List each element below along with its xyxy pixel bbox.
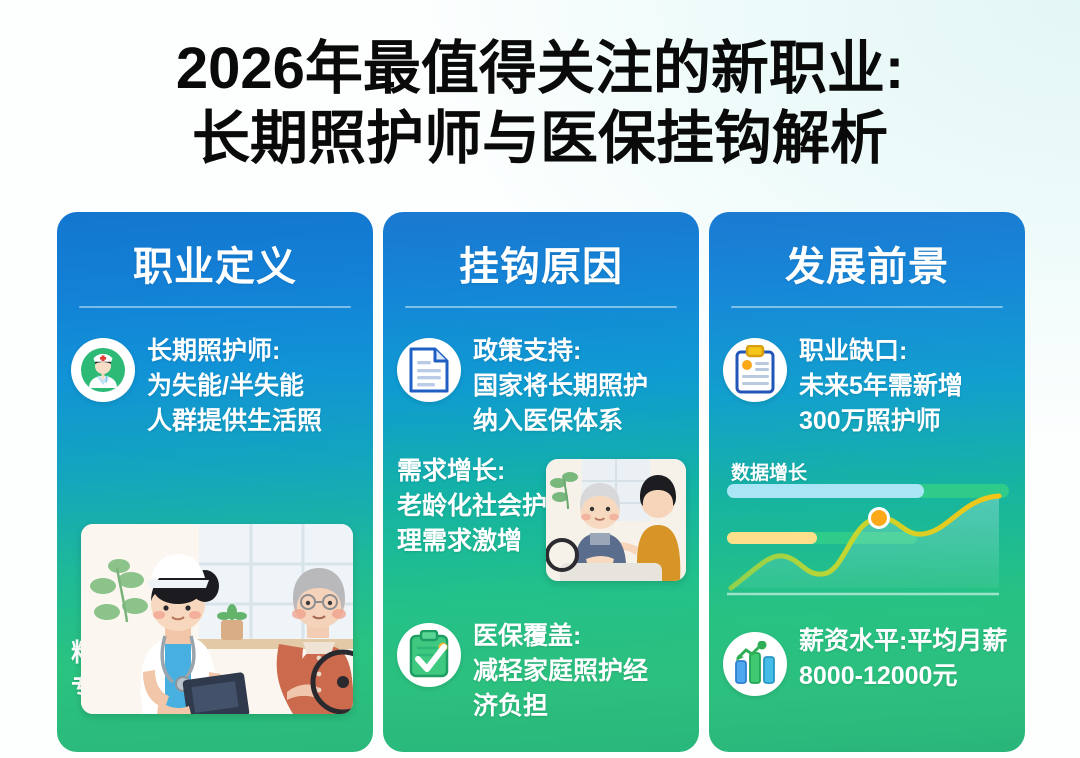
card-job-definition[interactable]: 职业定义 长期照护师: 为失能/半失能: [57, 212, 373, 752]
bullet-text: 长期照护师: 为失能/半失能 人群提供生活照: [147, 332, 322, 439]
bullet-line: 未来5年需新增: [799, 369, 963, 404]
card-title: 挂钩原因: [383, 212, 699, 292]
bullet-line: 人群提供生活照: [147, 404, 322, 439]
card-divider: [731, 306, 1003, 308]
bullet-row: 医保覆盖: 减轻家庭照护经 济负担: [383, 617, 699, 724]
bullet-text: 医保覆盖: 减轻家庭照护经 济负担: [473, 617, 648, 724]
bullet-heading: 职业缺口:: [799, 334, 963, 369]
card-link-reason[interactable]: 挂钩原因 政策支持: 国家将长期照护 纳入医保体系: [383, 212, 699, 752]
growth-chart: [727, 484, 1009, 606]
bullet-demand-text: 需求增长: 老龄化社会护 理需求激增: [397, 454, 557, 559]
bullet-line: 国家将长期照护: [473, 369, 648, 404]
bullet-text: 薪资水平:平均月薪 8000-12000元: [799, 622, 1007, 694]
bullet-line: 8000-12000元: [799, 659, 1007, 694]
title-line-1: 2026年最值得关注的新职业:: [0, 34, 1080, 104]
document-icon: [397, 338, 461, 402]
bullet-heading: 医保覆盖:: [473, 619, 648, 654]
bullet-heading: 长期照护师:: [147, 334, 322, 369]
nurse-with-elderly-woman-illustration: [81, 524, 353, 714]
bullet-heading: 薪资水平:平均月薪: [799, 624, 1007, 659]
bar-chart-growth-icon: [723, 632, 787, 696]
bullet-heading: 政策支持:: [473, 334, 648, 369]
bullet-row: 政策支持: 国家将长期照护 纳入医保体系: [383, 332, 699, 439]
bullet-line: 老龄化社会护: [397, 489, 557, 524]
bullet-line: 为失能/半失能: [147, 369, 322, 404]
bullet-row: 职业缺口: 未来5年需新增 300万照护师: [709, 332, 1025, 439]
growth-chart-label: 数据增长: [731, 458, 807, 485]
clipboard-check-icon: [397, 623, 461, 687]
bullet-heading: 需求增长:: [397, 454, 557, 489]
bullet-line: 理需求激增: [397, 524, 557, 559]
bullet-text: 政策支持: 国家将长期照护 纳入医保体系: [473, 332, 648, 439]
card-title: 职业定义: [57, 212, 373, 292]
card-title: 发展前景: [709, 212, 1025, 292]
bullet-row: 长期照护师: 为失能/半失能 人群提供生活照: [57, 332, 373, 439]
card-divider: [405, 306, 677, 308]
caregiver-with-elderly-man-illustration: [546, 459, 686, 581]
page-title: 2026年最值得关注的新职业: 长期照护师与医保挂钩解析: [0, 34, 1080, 174]
bullet-line: 减轻家庭照护经: [473, 654, 648, 689]
nurse-avatar-icon: [71, 338, 135, 402]
card-development-prospect[interactable]: 发展前景 职业缺口: 未来5年需新增: [709, 212, 1025, 752]
card-divider: [79, 306, 351, 308]
bullet-line: 济负担: [473, 689, 648, 724]
bullet-line: 纳入医保体系: [473, 404, 648, 439]
bullet-line: 300万照护师: [799, 404, 963, 439]
bullet-row-salary: 薪资水平:平均月薪 8000-12000元: [723, 622, 1025, 696]
title-line-2: 长期照护师与医保挂钩解析: [0, 104, 1080, 174]
clipboard-list-icon: [723, 338, 787, 402]
cards-row: 职业定义 长期照护师: 为失能/半失能: [57, 212, 1026, 752]
bullet-text: 职业缺口: 未来5年需新增 300万照护师: [799, 332, 963, 439]
